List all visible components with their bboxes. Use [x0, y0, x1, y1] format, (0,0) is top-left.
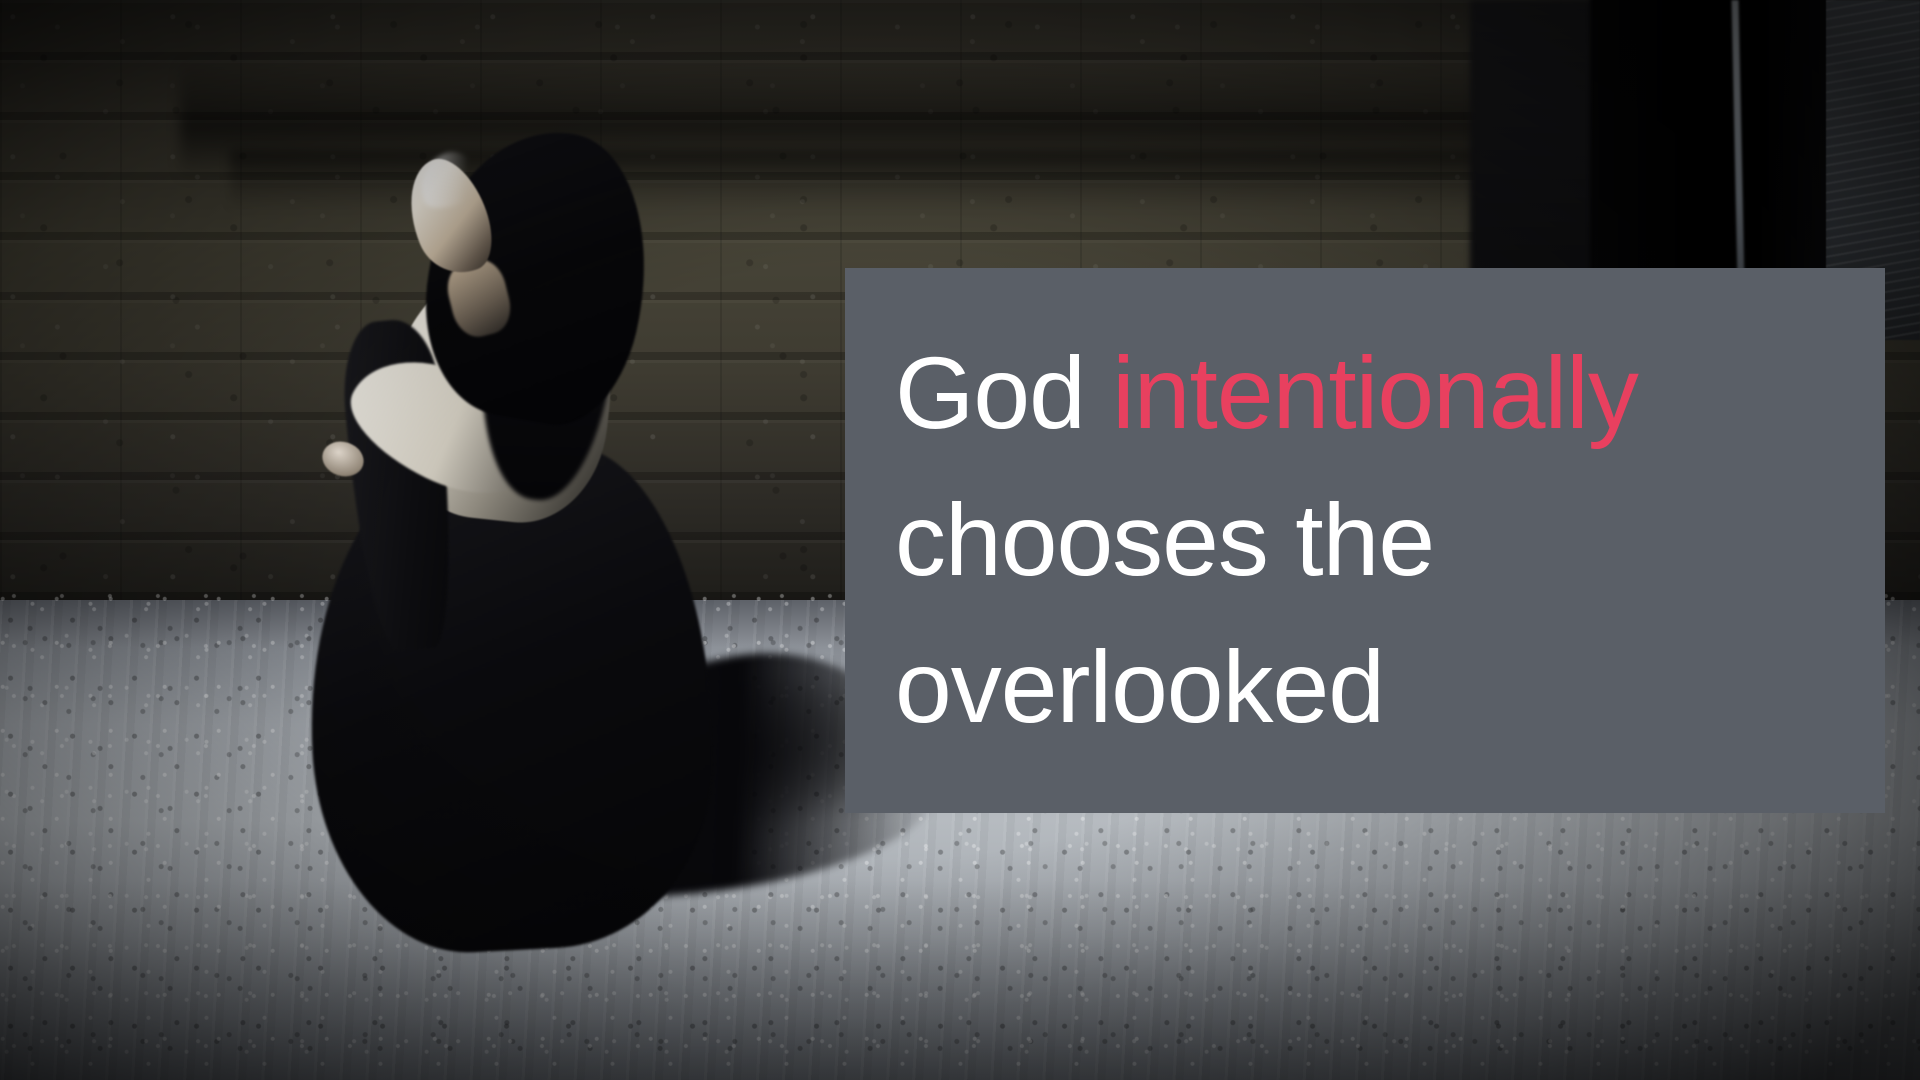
slide-canvas: God intentionally chooses the overlooked: [0, 0, 1920, 1080]
quote-line-1-segment-1: God: [895, 336, 1112, 450]
quote-line-2-segment-1: chooses the: [895, 483, 1434, 597]
quote-line-1-accent-word: intentionally: [1112, 336, 1638, 450]
quote-line-2: chooses the: [895, 467, 1885, 614]
quote-line-3-segment-1: overlooked: [895, 630, 1384, 744]
quote-line-1: God intentionally: [895, 320, 1885, 467]
quote-text-panel: God intentionally chooses the overlooked: [845, 268, 1885, 813]
quote-line-3: overlooked: [895, 614, 1885, 761]
